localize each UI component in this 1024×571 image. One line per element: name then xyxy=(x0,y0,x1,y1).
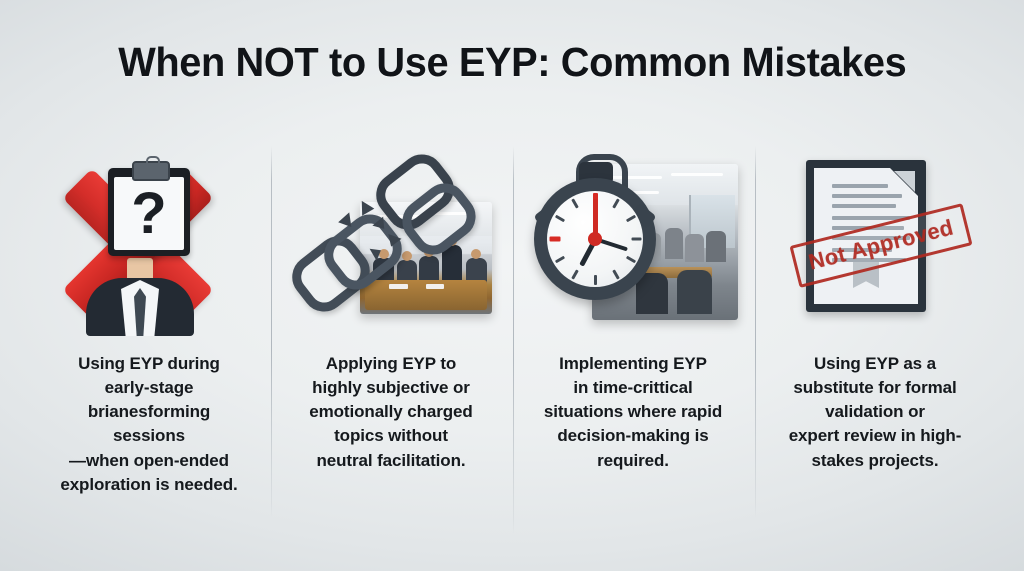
mistake-column-2: Applying EYP to highly subjective or emo… xyxy=(270,140,512,530)
icon-stage-4: Not Approved xyxy=(770,148,980,338)
businessman-figure-icon xyxy=(86,258,194,336)
infographic-canvas: When NOT to Use EYP: Common Mistakes xyxy=(0,0,1024,571)
foreground-person-2 xyxy=(677,270,712,314)
clipboard-sheet: ? xyxy=(114,177,184,250)
mistake-column-1: ? Using EYP during early-stage brianesfo… xyxy=(28,140,270,530)
mistake-caption-4: Using EYP as a substitute for formal val… xyxy=(777,352,973,473)
stopwatch-center-pin xyxy=(588,232,602,246)
icon-stage-3 xyxy=(528,148,738,338)
page-title: When NOT to Use EYP: Common Mistakes xyxy=(118,40,906,85)
crowd-person-4 xyxy=(665,228,683,259)
stopwatch-face xyxy=(547,191,643,287)
crowd-person-5 xyxy=(685,234,704,262)
mistake-caption-2: Applying EYP to highly subjective or emo… xyxy=(293,352,489,473)
document-scene: Not Approved xyxy=(770,148,980,338)
icon-stage-1: ? xyxy=(44,148,254,338)
office-light-2 xyxy=(671,173,724,176)
doc-text-line-3 xyxy=(832,204,896,208)
mistake-column-4: Not Approved Using EYP as a substitute f… xyxy=(754,140,996,530)
doc-text-line-2 xyxy=(832,194,902,198)
icon-stage-2 xyxy=(286,148,496,338)
mistake-caption-1: Using EYP during early-stage brianesform… xyxy=(51,352,247,497)
broken-chain-icon xyxy=(286,148,496,338)
stopwatch-scene xyxy=(528,148,738,338)
mistake-column-3: Implementing EYP in time-crittical situa… xyxy=(512,140,754,530)
question-mark-icon: ? xyxy=(114,186,184,242)
stopwatch-case xyxy=(534,178,656,300)
clipboard-icon: ? xyxy=(108,168,190,256)
photo-papers-2 xyxy=(426,284,444,290)
stopwatch-icon xyxy=(534,162,658,286)
photo-papers-1 xyxy=(389,284,407,290)
columns-container: ? Using EYP during early-stage brianesfo… xyxy=(28,140,996,530)
mistake-caption-3: Implementing EYP in time-crittical situa… xyxy=(535,352,731,473)
doc-text-line-1 xyxy=(832,184,888,188)
clipboard-clip xyxy=(132,161,170,181)
title-container: When NOT to Use EYP: Common Mistakes xyxy=(0,40,1024,85)
crowd-person-6 xyxy=(706,231,726,262)
